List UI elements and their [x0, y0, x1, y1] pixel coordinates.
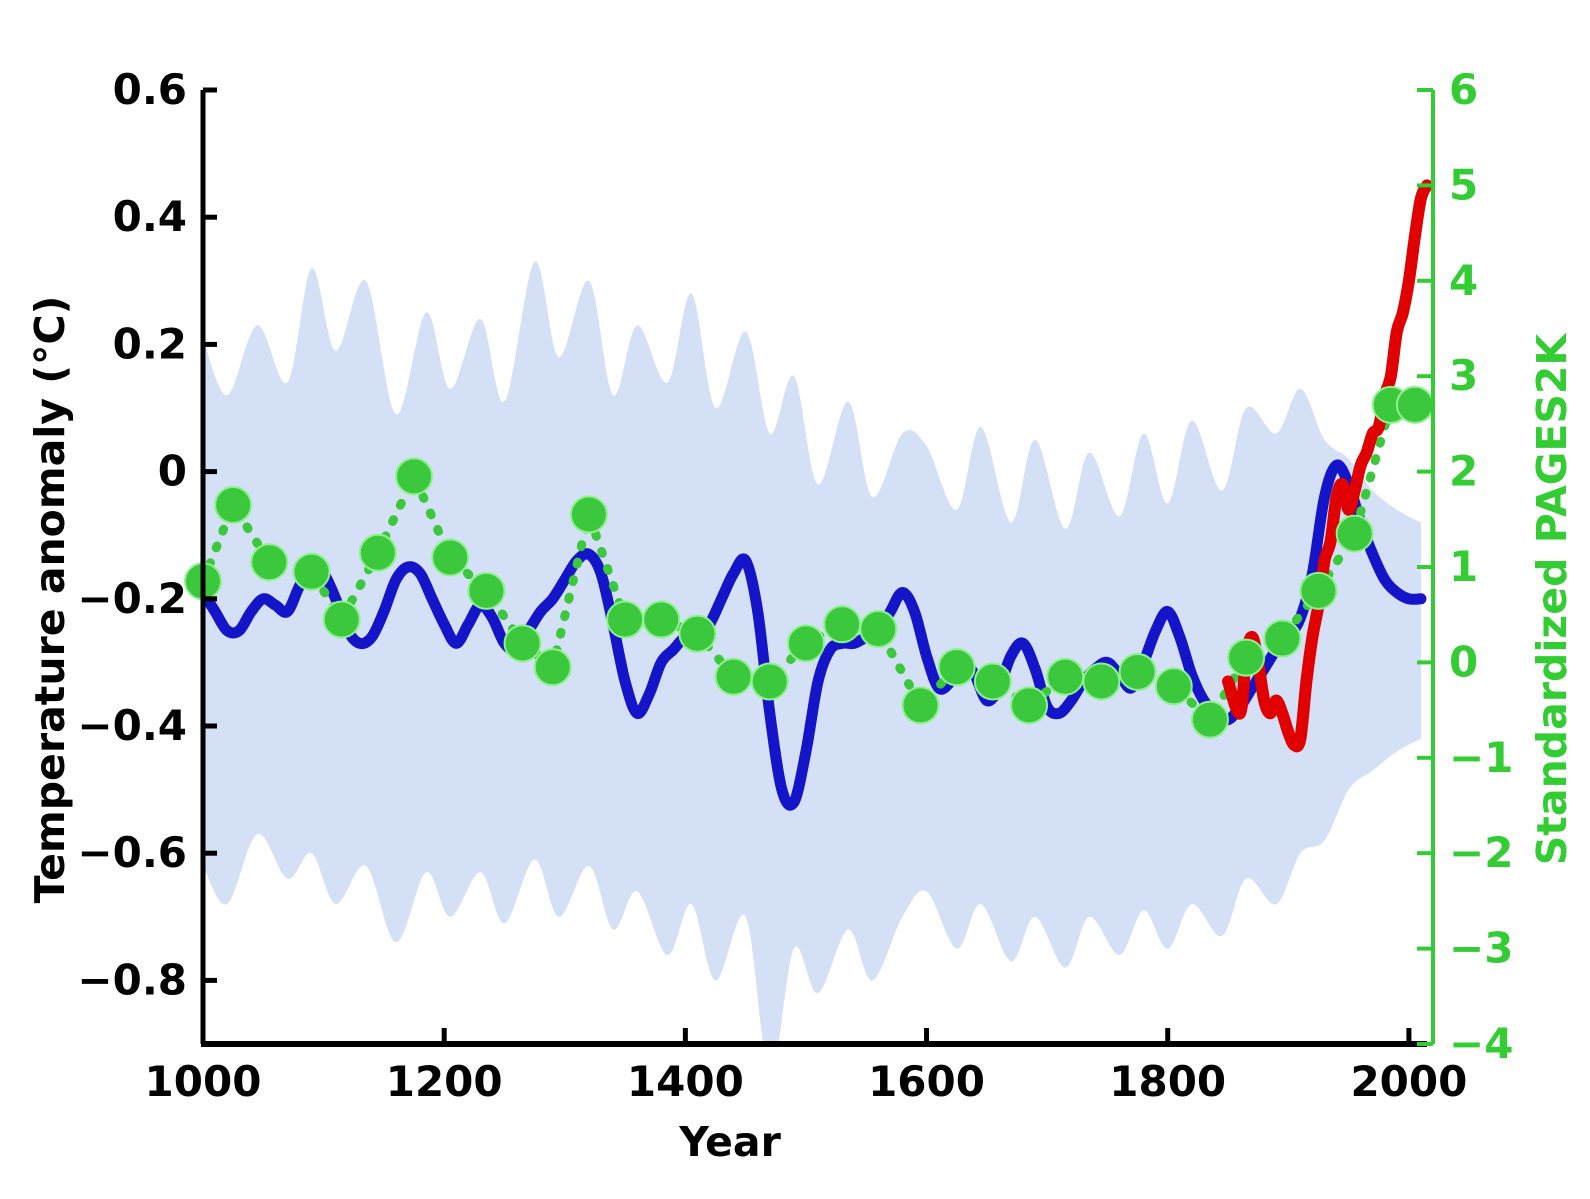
svg-text:0: 0 — [158, 447, 187, 496]
svg-text:−0.2: −0.2 — [77, 574, 187, 623]
svg-text:0.6: 0.6 — [113, 65, 187, 114]
svg-text:2: 2 — [1449, 447, 1478, 496]
svg-text:−4: −4 — [1449, 1019, 1513, 1068]
chart-figure: 0.60.40.20−0.2−0.4−0.6−0.810001200140016… — [0, 0, 1590, 1199]
y-axis-label-right: Standardized PAGES2K — [1520, 0, 1584, 1199]
svg-text:−2: −2 — [1449, 828, 1513, 877]
svg-text:1600: 1600 — [868, 1057, 985, 1106]
svg-text:4: 4 — [1449, 256, 1478, 305]
y-axis-label-left: Temperature anomaly (°C) — [20, 0, 80, 1199]
svg-text:3: 3 — [1449, 351, 1478, 400]
svg-text:0.2: 0.2 — [113, 319, 187, 368]
svg-text:−0.6: −0.6 — [77, 828, 187, 877]
svg-text:−0.4: −0.4 — [77, 701, 187, 750]
svg-text:0.4: 0.4 — [113, 192, 187, 241]
x-axis-label: Year — [0, 1118, 1460, 1166]
svg-text:0: 0 — [1449, 637, 1478, 686]
chart-plot-area: 0.60.40.20−0.2−0.4−0.6−0.810001200140016… — [0, 0, 1590, 1199]
svg-text:−3: −3 — [1449, 924, 1513, 973]
svg-text:1400: 1400 — [627, 1057, 744, 1106]
svg-text:5: 5 — [1449, 160, 1478, 209]
svg-text:1800: 1800 — [1109, 1057, 1226, 1106]
svg-text:1000: 1000 — [145, 1057, 262, 1106]
svg-text:−1: −1 — [1449, 733, 1513, 782]
svg-text:6: 6 — [1449, 65, 1478, 114]
svg-text:−0.8: −0.8 — [77, 955, 187, 1004]
svg-text:1200: 1200 — [386, 1057, 503, 1106]
svg-text:1: 1 — [1449, 542, 1478, 591]
